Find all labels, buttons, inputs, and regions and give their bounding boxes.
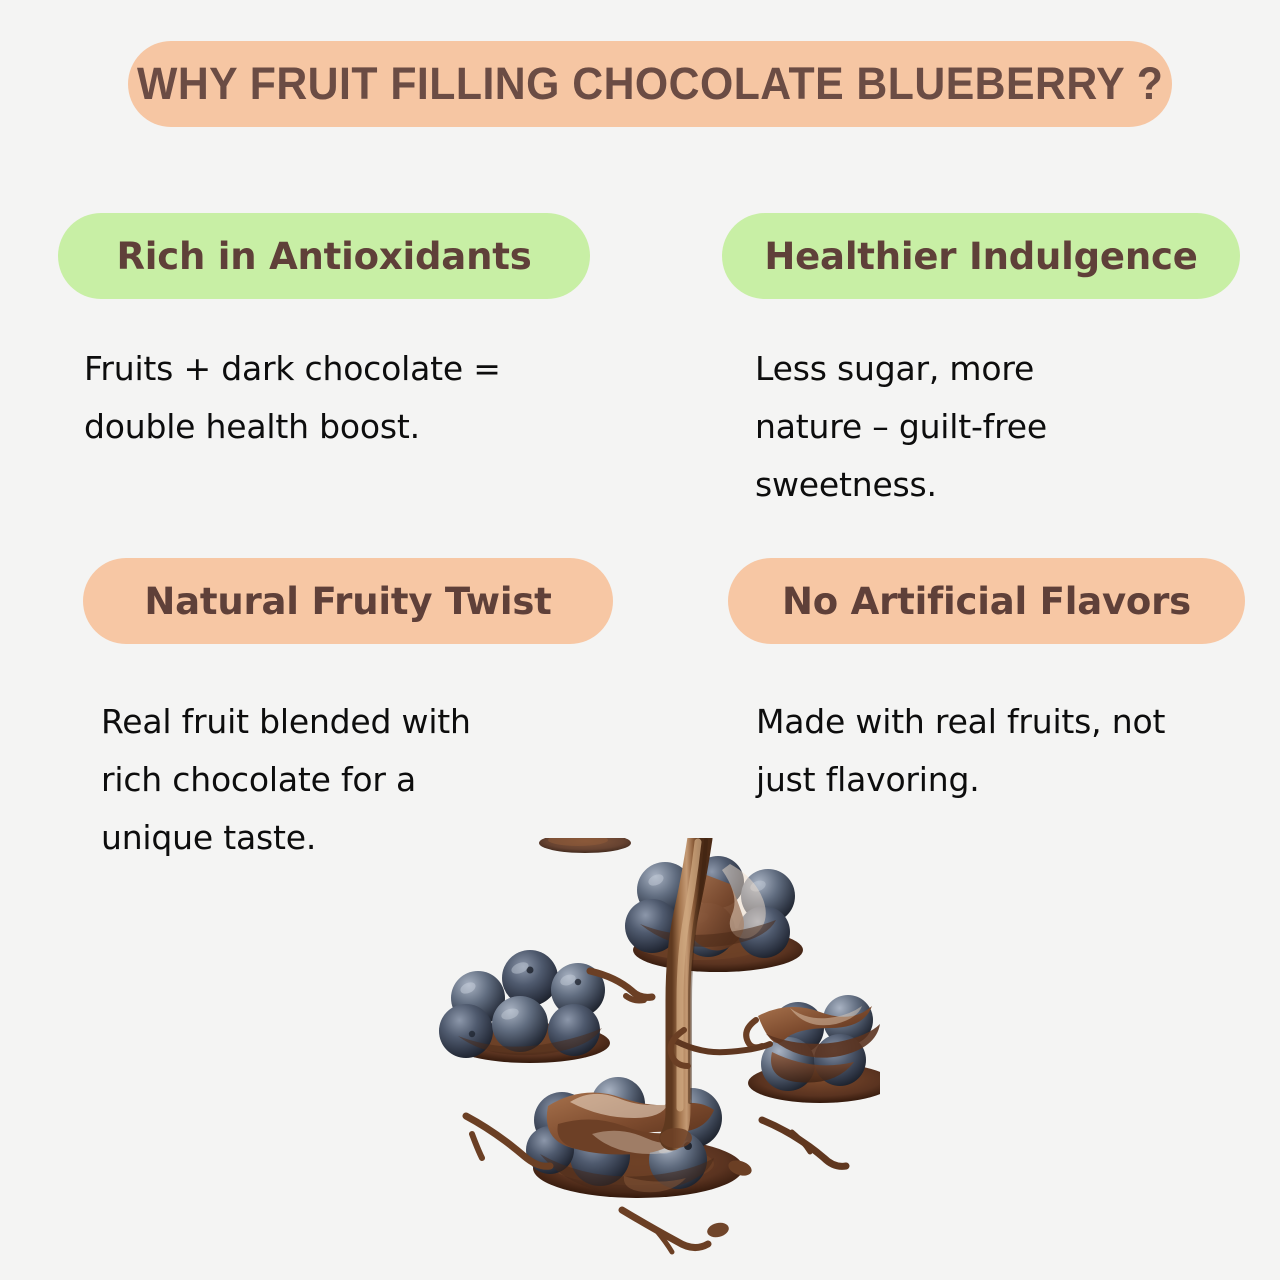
infographic-poster: WHY FRUIT FILLING CHOCOLATE BLUEBERRY ? … [0,0,1280,1280]
feature-heading: No Artificial Flavors [782,580,1191,623]
feature-pill-no-artificial-flavors: No Artificial Flavors [728,558,1245,644]
blueberry-chocolate-photo [400,838,880,1280]
feature-pill-rich-in-antioxidants: Rich in Antioxidants [58,213,590,299]
blueberry-cluster-center [526,1077,743,1198]
feature-body-no-artificial-flavors: Made with real fruits, not just flavorin… [756,693,1256,809]
title-pill: WHY FRUIT FILLING CHOCOLATE BLUEBERRY ? [128,41,1172,127]
blueberry-cluster-top [625,856,803,972]
feature-body-rich-in-antioxidants: Fruits + dark chocolate = double health … [84,340,604,456]
page-title: WHY FRUIT FILLING CHOCOLATE BLUEBERRY ? [137,58,1163,110]
feature-pill-healthier-indulgence: Healthier Indulgence [722,213,1240,299]
feature-body-healthier-indulgence: Less sugar, more nature – guilt-free swe… [755,340,1225,514]
feature-heading: Rich in Antioxidants [116,235,531,278]
feature-heading: Natural Fruity Twist [144,580,551,623]
feature-heading: Healthier Indulgence [764,235,1197,278]
feature-pill-natural-fruity-twist: Natural Fruity Twist [83,558,613,644]
